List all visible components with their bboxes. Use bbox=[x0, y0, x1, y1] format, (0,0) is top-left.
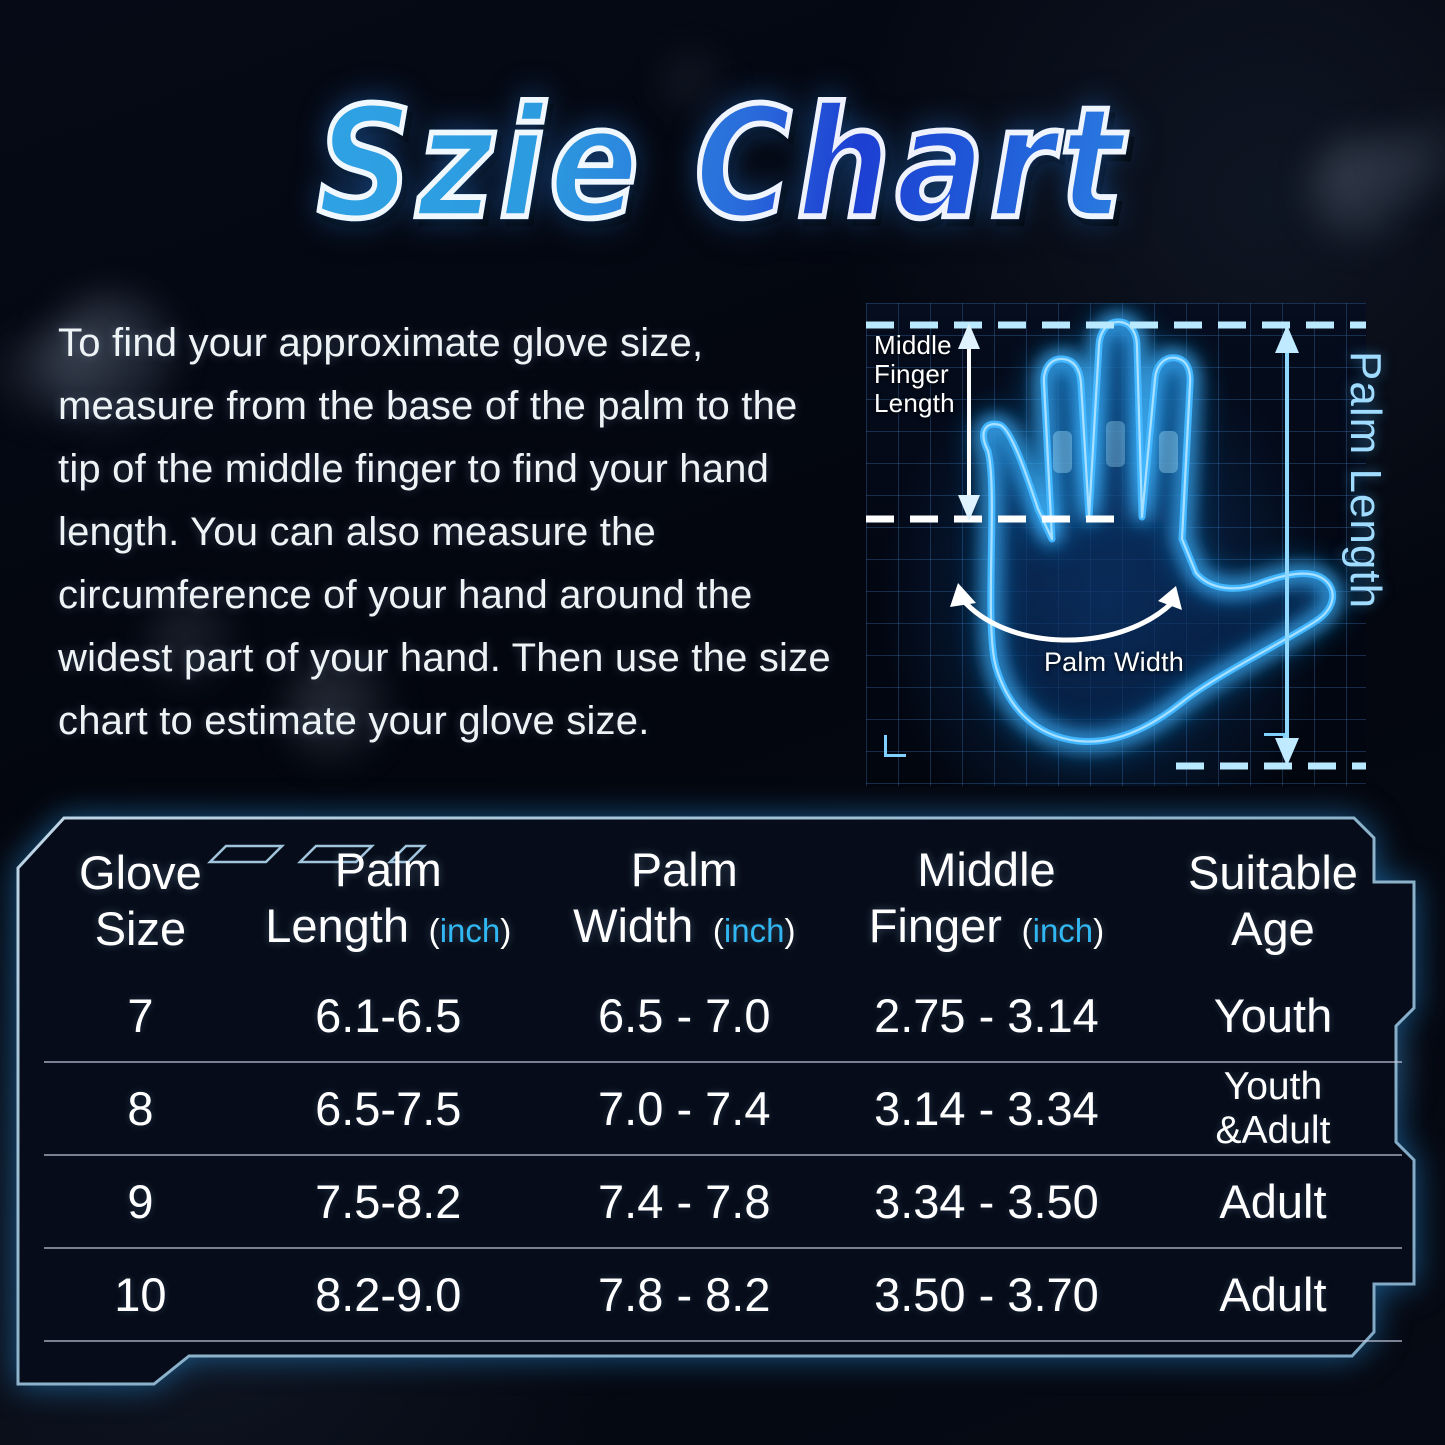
cell-glove-size: 9 bbox=[44, 1155, 237, 1248]
cell-palm-length: 6.5-7.5 bbox=[237, 1062, 540, 1155]
col-header-palm-length: Palm Length (inch) bbox=[237, 838, 540, 969]
size-chart-table-panel: Glove Size Palm Length (inch) Palm Width bbox=[14, 812, 1432, 1390]
page-title: Szie Chart bbox=[317, 87, 1128, 240]
table-body: 76.1-6.56.5 - 7.02.75 - 3.14Youth86.5-7.… bbox=[44, 969, 1402, 1341]
col-header-middle-finger: Middle Finger (inch) bbox=[829, 838, 1144, 969]
table-row: 97.5-8.27.4 - 7.83.34 - 3.50Adult bbox=[44, 1155, 1402, 1248]
cell-suitable-age: Youth bbox=[1144, 969, 1402, 1062]
cell-middle-finger: 3.14 - 3.34 bbox=[829, 1062, 1144, 1155]
page-title-wrap: Szie Chart bbox=[0, 98, 1445, 233]
table-row: 76.1-6.56.5 - 7.02.75 - 3.14Youth bbox=[44, 969, 1402, 1062]
col-header-palm-width: Palm Width (inch) bbox=[540, 838, 829, 969]
hand-measurement-diagram: Middle Finger Length Palm Width Palm Len… bbox=[866, 303, 1366, 786]
palm-width-label: Palm Width bbox=[1014, 647, 1214, 678]
cell-palm-length: 8.2-9.0 bbox=[237, 1248, 540, 1341]
cell-middle-finger: 3.34 - 3.50 bbox=[829, 1155, 1144, 1248]
table-row: 108.2-9.07.8 - 8.23.50 - 3.70Adult bbox=[44, 1248, 1402, 1341]
cell-middle-finger: 2.75 - 3.14 bbox=[829, 969, 1144, 1062]
cell-palm-width: 7.8 - 8.2 bbox=[540, 1248, 829, 1341]
size-chart-table-content: Glove Size Palm Length (inch) Palm Width bbox=[14, 812, 1432, 1390]
intro-paragraph: To find your approximate glove size, mea… bbox=[58, 312, 848, 753]
palm-length-label: Palm Length bbox=[1340, 351, 1390, 609]
cell-suitable-age: Youth&Adult bbox=[1144, 1062, 1402, 1155]
palm-width-arrowhead-left bbox=[950, 583, 976, 607]
size-chart-page: Szie Chart To find your approximate glov… bbox=[0, 0, 1445, 1445]
table-row: 86.5-7.57.0 - 7.43.14 - 3.34Youth&Adult bbox=[44, 1062, 1402, 1155]
size-chart-table: Glove Size Palm Length (inch) Palm Width bbox=[44, 838, 1402, 1342]
cell-glove-size: 8 bbox=[44, 1062, 237, 1155]
cell-suitable-age: Adult bbox=[1144, 1248, 1402, 1341]
table-header: Glove Size Palm Length (inch) Palm Width bbox=[44, 838, 1402, 969]
cell-suitable-age: Adult bbox=[1144, 1155, 1402, 1248]
middle-finger-length-label: Middle Finger Length bbox=[874, 331, 955, 418]
col-header-suitable-age: Suitable Age bbox=[1144, 838, 1402, 969]
cell-palm-width: 7.4 - 7.8 bbox=[540, 1155, 829, 1248]
table-header-row: Glove Size Palm Length (inch) Palm Width bbox=[44, 838, 1402, 969]
cell-glove-size: 10 bbox=[44, 1248, 237, 1341]
palm-length-arrow bbox=[1275, 325, 1299, 766]
col-header-glove-size: Glove Size bbox=[44, 838, 237, 969]
cell-palm-length: 7.5-8.2 bbox=[237, 1155, 540, 1248]
middle-finger-length-arrow bbox=[958, 323, 980, 521]
cell-palm-length: 6.1-6.5 bbox=[237, 969, 540, 1062]
cell-palm-width: 7.0 - 7.4 bbox=[540, 1062, 829, 1155]
cell-glove-size: 7 bbox=[44, 969, 237, 1062]
cell-middle-finger: 3.50 - 3.70 bbox=[829, 1248, 1144, 1341]
cell-palm-width: 6.5 - 7.0 bbox=[540, 969, 829, 1062]
